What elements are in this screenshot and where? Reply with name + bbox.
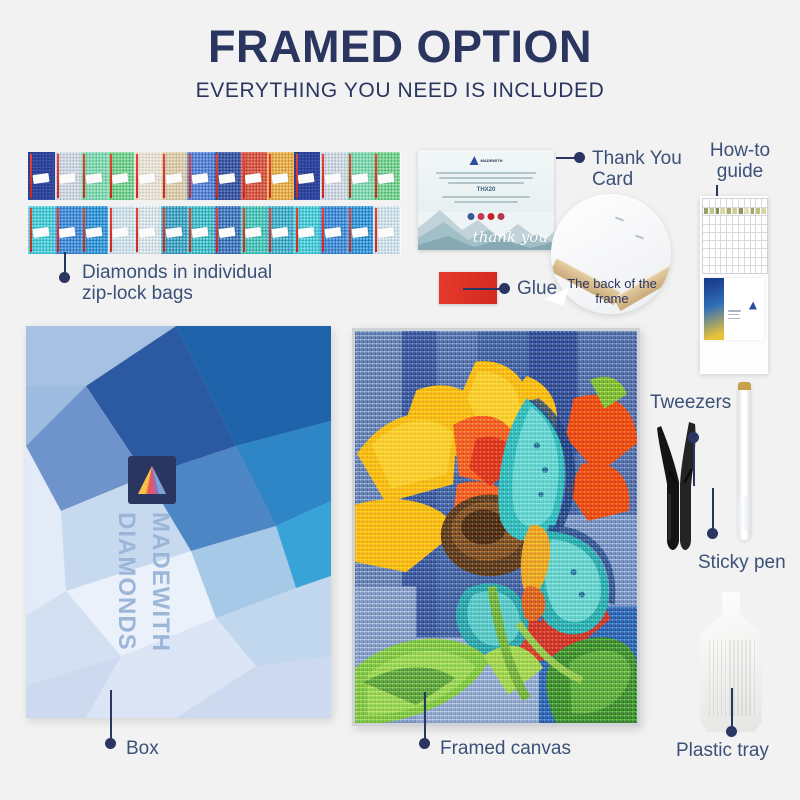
- card-social-icons: [468, 213, 505, 220]
- card-logo: MADEWITH: [470, 156, 503, 165]
- zip-lock-bag: [373, 152, 401, 200]
- zip-lock-bag: [373, 206, 401, 254]
- zip-lock-bag: [267, 152, 295, 200]
- table-row: [703, 232, 767, 233]
- zip-lock-bag: [320, 152, 348, 200]
- color-swatch: [745, 208, 749, 214]
- callout-line-box: [110, 690, 112, 742]
- color-swatch: [756, 208, 760, 214]
- zip-lock-bag: [134, 152, 162, 200]
- diamond-prism-icon-box: [128, 456, 176, 504]
- infographic-stage: FRAMED OPTION EVERYTHING YOU NEED IS INC…: [0, 0, 800, 800]
- tray-groove: [733, 640, 735, 717]
- how-to-guide: [700, 196, 768, 374]
- color-code-table: [702, 198, 768, 274]
- guide-cover-image: [704, 278, 724, 340]
- zip-lock-bag: [347, 206, 375, 254]
- callout-line-glue: [463, 288, 503, 290]
- callout-label-tweezers: Tweezers: [650, 392, 731, 413]
- callout-line-tray: [731, 688, 733, 730]
- callout-dot-icon-glue: [499, 283, 510, 294]
- card-logo-text: MADEWITH: [481, 159, 503, 163]
- box-brand-logo: MADEWITH DIAMONDS: [106, 456, 226, 686]
- table-row: [703, 240, 767, 241]
- product-box: MADEWITH DIAMONDS: [26, 326, 331, 718]
- table-row: [703, 215, 767, 216]
- color-swatch: [710, 208, 714, 214]
- color-swatch: [762, 208, 766, 214]
- card-promo-code: THX20: [432, 187, 541, 193]
- thank-you-card: MADEWITH THX20 thank you: [418, 150, 554, 250]
- zip-lock-bag-row-bottom: [28, 206, 400, 254]
- guide-booklet: [704, 278, 764, 340]
- color-swatch: [716, 208, 720, 214]
- table-row: [703, 248, 767, 249]
- callout-label-canvas: Framed canvas: [440, 738, 571, 759]
- callout-label-tray: Plastic tray: [676, 740, 769, 761]
- canvas-artwork: [355, 331, 637, 723]
- callout-dot-icon-diamonds: [59, 272, 70, 283]
- zip-lock-bag: [108, 206, 136, 254]
- zip-lock-bag: [28, 206, 56, 254]
- zip-lock-bag: [294, 206, 322, 254]
- zip-lock-bag: [320, 206, 348, 254]
- youtube-icon: [498, 213, 505, 220]
- zip-lock-bag: [81, 152, 109, 200]
- zip-lock-bag: [187, 152, 215, 200]
- zip-lock-bag: [214, 152, 242, 200]
- zip-lock-bag: [214, 206, 242, 254]
- zip-lock-bag: [187, 206, 215, 254]
- card-body-text: THX20: [432, 172, 541, 206]
- zip-lock-bag: [241, 206, 269, 254]
- callout-dot-icon-thankyou: [574, 152, 585, 163]
- table-row: [703, 257, 767, 258]
- pen-grip: [737, 496, 752, 531]
- color-swatch: [733, 208, 737, 214]
- zip-lock-bag: [161, 206, 189, 254]
- tray-groove: [725, 640, 727, 717]
- zip-lock-bag: [294, 152, 322, 200]
- sticky-pen: [738, 382, 751, 540]
- callout-line-tweezers: [693, 438, 695, 486]
- zip-lock-bag: [55, 206, 83, 254]
- callout-label-diamonds: Diamonds in individual zip-lock bags: [82, 262, 272, 304]
- color-swatch: [704, 208, 708, 214]
- color-swatch: [727, 208, 731, 214]
- callout-line-canvas: [424, 692, 426, 740]
- tray-groove: [721, 640, 723, 717]
- callout-dot-icon-canvas: [419, 738, 430, 749]
- tray-groove: [749, 640, 751, 717]
- zip-lock-bag: [134, 206, 162, 254]
- bubble-caption: The back of the frame: [566, 276, 658, 306]
- instagram-icon: [478, 213, 485, 220]
- tray-groove: [745, 640, 747, 717]
- table-row: [703, 224, 767, 225]
- color-swatch: [751, 208, 755, 214]
- zip-lock-bag: [267, 206, 295, 254]
- callout-dot-icon-tweezers: [688, 432, 699, 443]
- tray-groove: [741, 640, 743, 717]
- callout-label-pen: Sticky pen: [698, 552, 786, 573]
- prism-glyph: [135, 463, 169, 497]
- zip-lock-bag: [108, 152, 136, 200]
- card-script-text: thank you: [473, 231, 548, 244]
- callout-label-thankyou: Thank You Card: [592, 148, 682, 190]
- box-brand-line2: DIAMONDS: [112, 512, 140, 651]
- color-swatch: [739, 208, 743, 214]
- page-subtitle: EVERYTHING YOU NEED IS INCLUDED: [0, 78, 800, 103]
- tray-groove: [737, 640, 739, 717]
- callout-label-box: Box: [126, 738, 159, 759]
- callout-dot-icon-tray: [726, 726, 737, 737]
- diamond-prism-icon: [470, 156, 479, 165]
- callout-label-howto: How-to guide: [700, 140, 780, 182]
- zip-lock-bag: [347, 152, 375, 200]
- callout-dot-icon-pen: [707, 528, 718, 539]
- pen-tip-icon: [738, 382, 751, 390]
- color-swatch: [721, 208, 725, 214]
- box-brand-line1: MADEWITH: [146, 512, 174, 652]
- page-header: FRAMED OPTION EVERYTHING YOU NEED IS INC…: [0, 22, 800, 103]
- artwork-illustration: [355, 331, 637, 723]
- facebook-icon: [468, 213, 475, 220]
- tray-groove: [709, 640, 711, 717]
- table-row: [703, 265, 767, 266]
- callout-line-pen: [712, 488, 714, 532]
- tray-groove: [713, 640, 715, 717]
- zip-lock-bag: [161, 152, 189, 200]
- zip-lock-bag-row-top: [28, 152, 400, 200]
- zip-lock-bag: [241, 152, 269, 200]
- framed-canvas: [352, 328, 640, 726]
- zip-lock-bag: [28, 152, 56, 200]
- tray-groove: [754, 640, 756, 717]
- callout-dot-icon-box: [105, 738, 116, 749]
- page-title: FRAMED OPTION: [0, 22, 800, 72]
- zip-lock-bag: [55, 152, 83, 200]
- diamond-prism-icon-guide: [749, 302, 757, 310]
- pinterest-icon: [488, 213, 495, 220]
- zip-lock-bag: [81, 206, 109, 254]
- tray-groove: [717, 640, 719, 717]
